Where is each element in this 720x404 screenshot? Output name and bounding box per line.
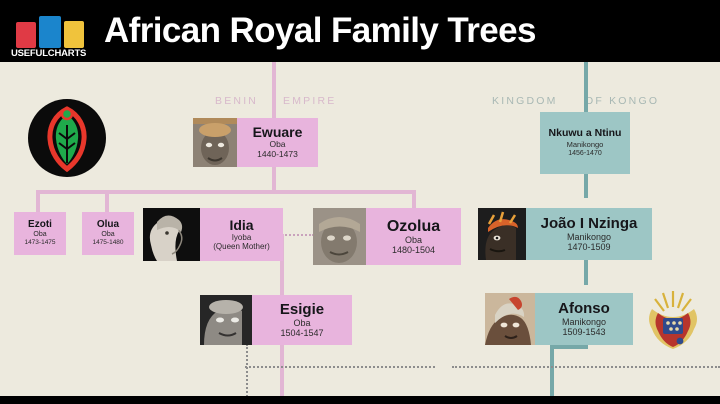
person-dates: 1456-1470 [568, 150, 601, 158]
person-dates: (Queen Mother) [213, 242, 269, 251]
connector-afonso-jog [550, 345, 588, 349]
person-dates: 1473-1475 [24, 239, 55, 246]
portrait-esigie [200, 295, 252, 345]
person-title: Manikongo [567, 232, 611, 242]
logo-blue-bar-icon [39, 16, 61, 48]
person-card-esigie[interactable]: Esigie Oba 1504-1547 [200, 295, 352, 345]
person-name: Ozolua [387, 218, 440, 235]
person-name: João I Nzinga [541, 216, 638, 232]
portrait-ewuare [193, 118, 237, 167]
logo-wordmark: USEFULCHARTS [11, 48, 95, 59]
connector-esigie-tail [280, 345, 284, 396]
person-dates: 1470-1509 [567, 242, 610, 252]
person-name: Ewuare [253, 125, 303, 140]
person-card-afonso[interactable]: Afonso Manikongo 1509-1543 [485, 293, 633, 345]
card-body-nkuwu: Nkuwu a Ntinu Manikongo 1456-1470 [540, 112, 630, 174]
card-body-ewuare: Ewuare Oba 1440-1473 [237, 118, 318, 167]
card-body-ezoti: Ezoti Oba 1473-1475 [14, 212, 66, 255]
person-name: Esigie [280, 302, 324, 318]
adinkra-emblem-icon [28, 99, 106, 177]
card-body-olua: Olua Oba 1475-1480 [82, 212, 134, 255]
person-name: Idia [229, 218, 253, 233]
usefulcharts-logo: USEFULCHARTS [8, 8, 94, 54]
person-title: Manikongo [562, 317, 606, 327]
connector-to-ezoti [36, 190, 40, 212]
person-title: Oba [293, 318, 310, 328]
person-card-olua[interactable]: Olua Oba 1475-1480 [82, 212, 134, 255]
person-title: Oba [101, 231, 114, 239]
person-name: Ezoti [28, 220, 52, 231]
section-label-benin: BENIN [215, 95, 258, 107]
person-name: Nkuwu a Ntinu [549, 128, 622, 139]
connector-to-olua [105, 190, 109, 212]
person-card-nkuwu[interactable]: Nkuwu a Ntinu Manikongo 1456-1470 [540, 112, 630, 174]
person-card-idia[interactable]: Idia Iyoba (Queen Mother) [143, 208, 283, 261]
connector-top-to-nkuwu [584, 62, 588, 112]
person-title: Manikongo [567, 141, 604, 150]
person-dates: 1509-1543 [562, 327, 605, 337]
portrait-joao [478, 208, 526, 260]
person-dates: 1475-1480 [92, 239, 123, 246]
connector-nkuwu-to-joao [584, 174, 588, 198]
person-dates: 1440-1473 [257, 150, 298, 160]
person-dates: 1480-1504 [392, 245, 435, 255]
person-title: Oba [405, 235, 422, 245]
person-dates: 1504-1547 [280, 328, 323, 338]
dotted-link-left [245, 366, 435, 368]
person-name: Afonso [558, 301, 610, 317]
logo-red-bar-icon [16, 22, 36, 48]
person-name: Olua [97, 220, 119, 231]
card-body-idia: Idia Iyoba (Queen Mother) [200, 208, 283, 261]
section-label-empire: EMPIRE [283, 95, 336, 107]
person-card-joao[interactable]: João I Nzinga Manikongo 1470-1509 [478, 208, 652, 260]
person-card-ewuare[interactable]: Ewuare Oba 1440-1473 [193, 118, 318, 167]
tree-canvas: BENIN EMPIRE KINGDOM OF KONGO [0, 62, 720, 404]
section-label-kingdom: KINGDOM [492, 95, 558, 107]
connector-top-to-ewuare [272, 62, 276, 118]
portrait-idia [143, 208, 200, 261]
card-body-afonso: Afonso Manikongo 1509-1543 [535, 293, 633, 345]
family-tree-screenshot: USEFULCHARTS African Royal Family Trees [0, 0, 720, 404]
card-body-ozolua: Ozolua Oba 1480-1504 [366, 208, 461, 265]
page-title: African Royal Family Trees [104, 5, 536, 57]
person-title: Iyoba [232, 233, 252, 242]
dotted-link-right [452, 366, 720, 368]
header-bar: USEFULCHARTS African Royal Family Trees [0, 0, 720, 62]
portrait-afonso [485, 293, 535, 345]
person-card-ezoti[interactable]: Ezoti Oba 1473-1475 [14, 212, 66, 255]
connector-ewuare-down [272, 167, 276, 192]
connector-sibling-bar-benin [36, 190, 416, 194]
person-card-ozolua[interactable]: Ozolua Oba 1480-1504 [313, 208, 461, 265]
card-body-esigie: Esigie Oba 1504-1547 [252, 295, 352, 345]
kongo-coat-of-arms-icon [636, 289, 710, 351]
card-body-joao: João I Nzinga Manikongo 1470-1509 [526, 208, 652, 260]
person-title: Oba [33, 231, 46, 239]
portrait-ozolua [313, 208, 366, 265]
logo-yellow-bar-icon [64, 21, 84, 48]
dotted-link-vertical [246, 344, 248, 404]
section-label-of-kongo: OF KONGO [585, 95, 659, 107]
footer-bar [0, 396, 720, 404]
